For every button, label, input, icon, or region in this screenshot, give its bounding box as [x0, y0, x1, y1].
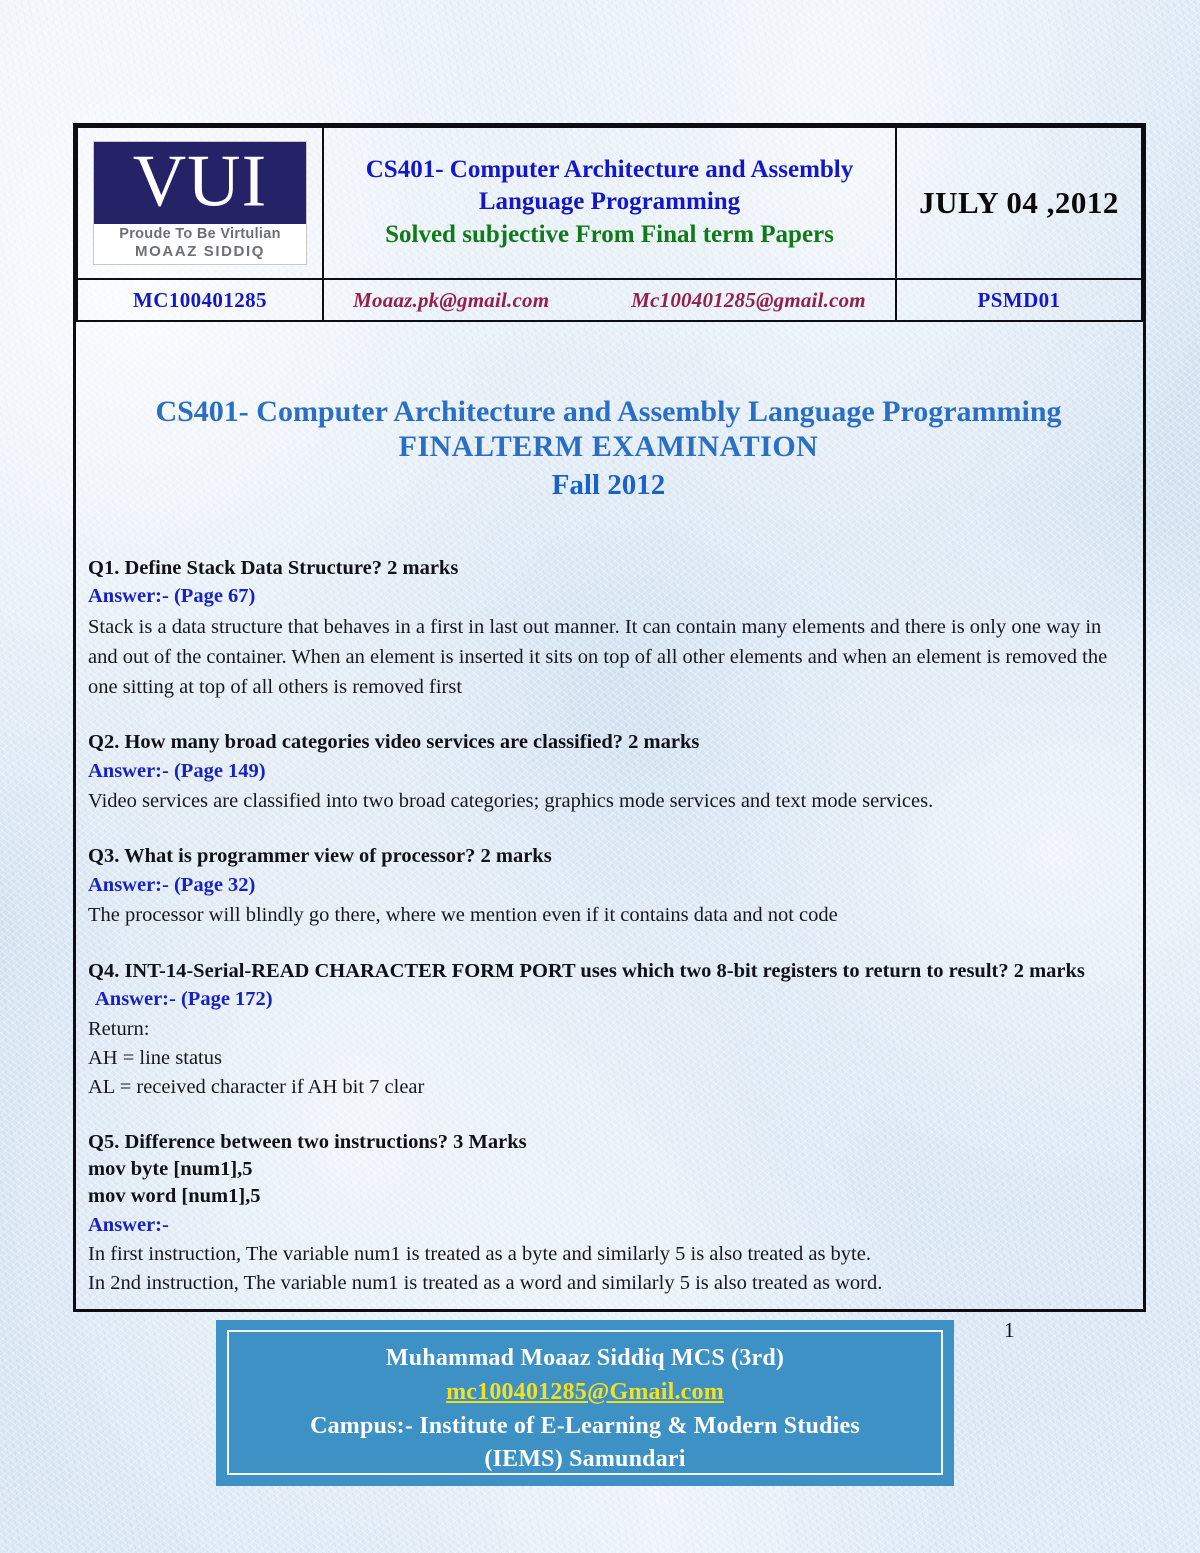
exam-type-title: FINALTERM EXAMINATION — [88, 429, 1129, 464]
question-text: Q3. What is programmer view of processor… — [88, 843, 1129, 870]
answer-label: Answer:- — [88, 1211, 1129, 1241]
footer-campus-line1: Campus:- Institute of E-Learning & Moder… — [229, 1410, 941, 1444]
vu-logo: VUI Proude To Be Virtulian MOAAZ SIDDIQ — [93, 141, 307, 265]
answer-text: AL = received character if AH bit 7 clea… — [88, 1073, 1129, 1102]
header-row-main: VUI Proude To Be Virtulian MOAAZ SIDDIQ … — [77, 127, 1142, 279]
footer-campus-line2: (IEMS) Samundari — [229, 1443, 941, 1477]
contact-email-secondary[interactable]: Mc100401285@gmail.com — [631, 288, 866, 312]
exam-title-block: CS401- Computer Architecture and Assembl… — [88, 322, 1129, 503]
footer-banner: Muhammad Moaaz Siddiq MCS (3rd) mc100401… — [216, 1320, 954, 1486]
header-cell-code: PSMD01 — [896, 279, 1142, 321]
qa-block: Q1. Define Stack Data Structure? 2 marks… — [88, 555, 1129, 702]
answer-label: Answer:- (Page 67) — [88, 582, 1129, 612]
question-text: Q2. How many broad categories video serv… — [88, 729, 1129, 756]
header-cell-logo: VUI Proude To Be Virtulian MOAAZ SIDDIQ — [77, 127, 323, 279]
question-answer-list: Q1. Define Stack Data Structure? 2 marks… — [88, 503, 1129, 1299]
header-subtitle: Solved subjective From Final term Papers — [324, 217, 895, 252]
answer-text: Stack is a data structure that behaves i… — [88, 612, 1129, 702]
answer-text: The processor will blindly go there, whe… — [88, 900, 1129, 930]
exam-course-title: CS401- Computer Architecture and Assembl… — [88, 394, 1129, 429]
header-row-contact: MC100401285 Moaaz.pk@gmail.com Mc1004012… — [77, 279, 1142, 321]
exam-session-title: Fall 2012 — [88, 465, 1129, 503]
logo-tagline: Proude To Be Virtulian — [94, 224, 306, 243]
header-cell-date: JULY 04 ,2012 — [896, 127, 1142, 279]
header-cell-student-id: MC100401285 — [77, 279, 323, 321]
footer-author-name: Muhammad Moaaz Siddiq MCS (3rd) — [229, 1342, 941, 1376]
qa-block: Q4. INT-14-Serial-READ CHARACTER FORM PO… — [88, 958, 1129, 1102]
answer-label: Answer:- (Page 149) — [88, 757, 1129, 787]
answer-text: Return: — [88, 1015, 1129, 1044]
answer-label: Answer:- (Page 32) — [88, 871, 1129, 901]
question-code-line: mov word [num1],5 — [88, 1183, 1129, 1210]
question-text: Q1. Define Stack Data Structure? 2 marks — [88, 555, 1129, 582]
question-text: Q5. Difference between two instructions?… — [88, 1129, 1129, 1156]
footer-email-link[interactable]: mc100401285@Gmail.com — [446, 1376, 724, 1410]
header-cell-emails: Moaaz.pk@gmail.com Mc100401285@gmail.com — [323, 279, 896, 321]
qa-block: Q3. What is programmer view of processor… — [88, 843, 1129, 930]
footer-email-row: mc100401285@Gmail.com — [229, 1376, 941, 1410]
page-number: 1 — [1004, 1318, 1015, 1343]
answer-text: AH = line status — [88, 1044, 1129, 1073]
logo-owner-name: MOAAZ SIDDIQ — [94, 243, 306, 264]
question-code-line: mov byte [num1],5 — [88, 1156, 1129, 1183]
header-date: JULY 04 ,2012 — [897, 185, 1141, 221]
student-id: MC100401285 — [133, 288, 267, 312]
question-text: Q4. INT-14-Serial-READ CHARACTER FORM PO… — [88, 958, 1129, 985]
qa-block: Q2. How many broad categories video serv… — [88, 729, 1129, 816]
logo-mark-text: VUI — [94, 145, 306, 219]
header-title-line2: Language Programming — [324, 186, 895, 218]
document-page-box: VUI Proude To Be Virtulian MOAAZ SIDDIQ … — [73, 123, 1146, 1312]
qa-block: Q5. Difference between two instructions?… — [88, 1129, 1129, 1299]
document-header-table: VUI Proude To Be Virtulian MOAAZ SIDDIQ … — [76, 126, 1143, 322]
answer-text: Video services are classified into two b… — [88, 786, 1129, 816]
answer-label: Answer:- (Page 172) — [88, 985, 1129, 1015]
footer-inner-frame: Muhammad Moaaz Siddiq MCS (3rd) mc100401… — [227, 1330, 943, 1475]
answer-text: In first instruction, The variable num1 … — [88, 1240, 1129, 1269]
paper-code: PSMD01 — [978, 288, 1061, 312]
document-body: CS401- Computer Architecture and Assembl… — [76, 322, 1143, 1299]
header-cell-title: CS401- Computer Architecture and Assembl… — [323, 127, 896, 279]
contact-email-primary[interactable]: Moaaz.pk@gmail.com — [353, 288, 549, 312]
header-title-line1: CS401- Computer Architecture and Assembl… — [324, 154, 895, 186]
answer-text: In 2nd instruction, The variable num1 is… — [88, 1269, 1129, 1298]
logo-navy-plate: VUI — [94, 142, 306, 224]
